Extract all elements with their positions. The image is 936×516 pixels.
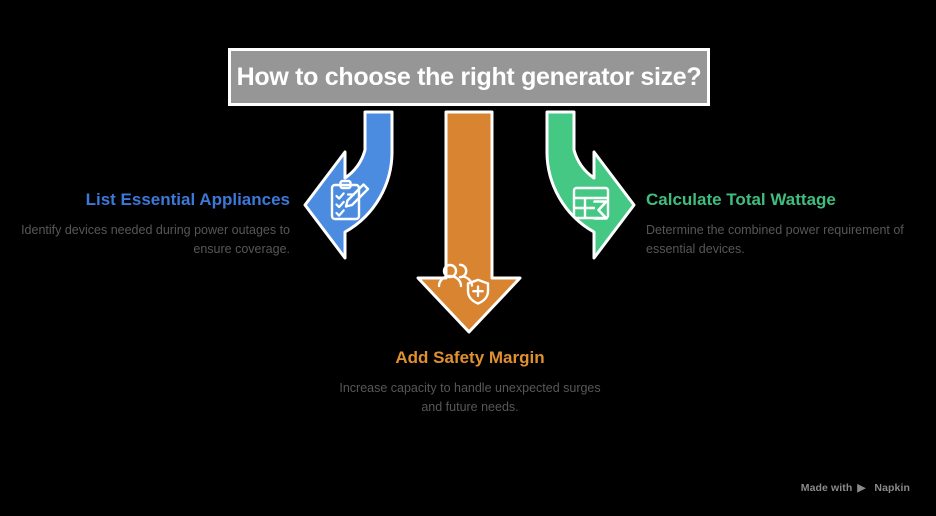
diagram-title-box: How to choose the right generator size? (228, 48, 710, 106)
branch-right: Calculate Total Wattage Determine the co… (646, 190, 921, 258)
diagram-canvas: How to choose the right generator size? (0, 0, 936, 516)
branch-left-description: Identify devices needed during power out… (18, 221, 290, 257)
page-title: How to choose the right generator size? (237, 63, 702, 92)
watermark-prefix: Made with (801, 482, 853, 494)
branch-left-title: List Essential Appliances (18, 190, 290, 210)
arrow-left-branch (305, 112, 392, 258)
arrow-bottom-branch (418, 112, 520, 332)
watermark-brand: Napkin (874, 482, 910, 494)
branch-left: List Essential Appliances Identify devic… (18, 190, 290, 258)
branch-right-title: Calculate Total Wattage (646, 190, 921, 210)
branch-right-description: Determine the combined power requirement… (646, 221, 921, 257)
branch-bottom: Add Safety Margin Increase capacity to h… (330, 348, 610, 416)
napkin-watermark: Made with ▶ Napkin (801, 482, 910, 494)
branch-bottom-title: Add Safety Margin (330, 348, 610, 368)
napkin-logo-icon: ▶ (857, 482, 869, 494)
branch-bottom-description: Increase capacity to handle unexpected s… (330, 379, 610, 415)
arrow-right-branch (547, 112, 634, 258)
